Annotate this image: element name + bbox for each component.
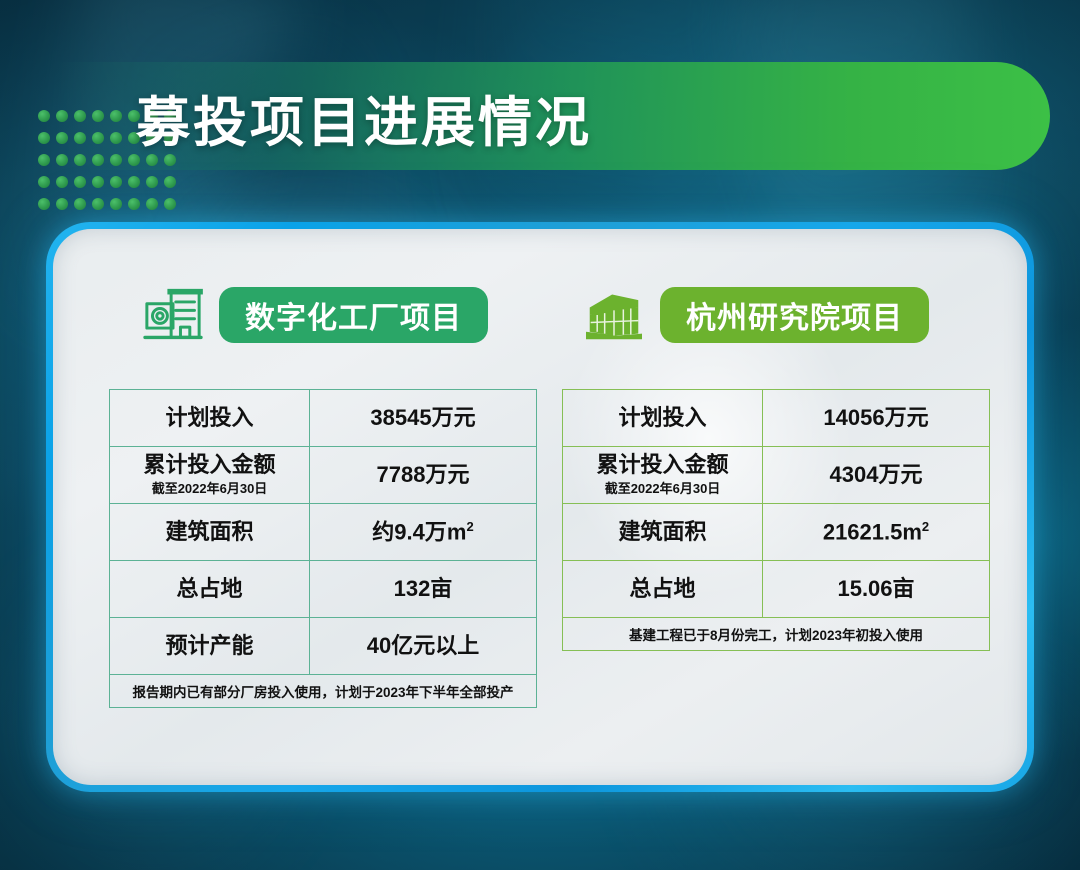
dot xyxy=(92,132,104,144)
dot xyxy=(164,198,176,210)
dot xyxy=(110,110,122,122)
value-text: 14056万元 xyxy=(823,406,928,429)
value-text: 15.06亩 xyxy=(837,577,914,600)
dot xyxy=(38,110,50,122)
project-note: 基建工程已于8月份完工，计划2023年初投入使用 xyxy=(563,618,989,650)
table-cell-label: 累计投入金额截至2022年6月30日 xyxy=(110,447,310,503)
dot xyxy=(92,198,104,210)
table-cell-value: 38545万元 xyxy=(310,390,536,446)
label-text: 计划投入 xyxy=(618,406,706,429)
page-title: 募投项目进展情况 xyxy=(136,78,592,157)
content-panel: 数字化工厂项目 计划投入38545万元累计投入金额截至2022年6月30日778… xyxy=(53,229,1027,785)
project-badge-digital-factory: 数字化工厂项目 xyxy=(219,287,488,343)
dot xyxy=(110,198,122,210)
dot xyxy=(146,176,158,188)
table-cell-label: 总占地 xyxy=(110,561,310,617)
project-badge-hangzhou-research: 杭州研究院项目 xyxy=(660,287,929,343)
project-header-hangzhou-research: 杭州研究院项目 xyxy=(540,287,1027,343)
label-text: 累计投入金额 xyxy=(143,453,275,476)
table-cell-value: 4304万元 xyxy=(763,447,989,503)
table-cell-label: 建筑面积 xyxy=(563,504,763,560)
table-cell-label: 计划投入 xyxy=(563,390,763,446)
label-text: 计划投入 xyxy=(165,406,253,429)
research-institute-icon xyxy=(584,287,644,343)
dot xyxy=(92,176,104,188)
digital-factory-icon xyxy=(143,287,203,343)
table-row: 总占地15.06亩 xyxy=(563,560,989,617)
value-superscript: 2 xyxy=(466,519,473,534)
dot xyxy=(92,154,104,166)
dot xyxy=(38,198,50,210)
table-cell-label: 预计产能 xyxy=(110,618,310,674)
dot xyxy=(56,176,68,188)
dot xyxy=(110,176,122,188)
label-sublabel: 截至2022年6月30日 xyxy=(605,478,721,497)
dot xyxy=(110,132,122,144)
dot xyxy=(56,110,68,122)
dot xyxy=(74,110,86,122)
dot xyxy=(110,154,122,166)
table-cell-value: 21621.5m2 xyxy=(763,504,989,560)
table-row: 建筑面积21621.5m2 xyxy=(563,503,989,560)
table-row: 总占地132亩 xyxy=(110,560,536,617)
table-row: 计划投入38545万元 xyxy=(110,390,536,446)
dot xyxy=(74,198,86,210)
value-text: 7788万元 xyxy=(377,463,470,486)
dot xyxy=(74,154,86,166)
table-cell-value: 14056万元 xyxy=(763,390,989,446)
content-frame: 数字化工厂项目 计划投入38545万元累计投入金额截至2022年6月30日778… xyxy=(46,222,1034,792)
table-cell-value: 7788万元 xyxy=(310,447,536,503)
project-columns: 数字化工厂项目 计划投入38545万元累计投入金额截至2022年6月30日778… xyxy=(53,229,1027,785)
dot xyxy=(56,154,68,166)
table-cell-label: 累计投入金额截至2022年6月30日 xyxy=(563,447,763,503)
label-text: 建筑面积 xyxy=(165,520,253,543)
table-row: 累计投入金额截至2022年6月30日7788万元 xyxy=(110,446,536,503)
table-cell-label: 计划投入 xyxy=(110,390,310,446)
value-text: 4304万元 xyxy=(830,463,923,486)
value-text: 38545万元 xyxy=(370,406,475,429)
table-cell-label: 建筑面积 xyxy=(110,504,310,560)
project-table-digital-factory: 计划投入38545万元累计投入金额截至2022年6月30日7788万元建筑面积约… xyxy=(109,389,537,708)
table-cell-value: 约9.4万m2 xyxy=(310,504,536,560)
project-header-digital-factory: 数字化工厂项目 xyxy=(53,287,540,343)
table-cell-value: 15.06亩 xyxy=(763,561,989,617)
table-row: 预计产能40亿元以上 xyxy=(110,617,536,674)
dot xyxy=(38,154,50,166)
table-row: 计划投入14056万元 xyxy=(563,390,989,446)
value-text: 132亩 xyxy=(394,577,453,600)
dot xyxy=(38,132,50,144)
project-note: 报告期内已有部分厂房投入使用，计划于2023年下半年全部投产 xyxy=(110,675,536,707)
dot xyxy=(92,110,104,122)
table-cell-value: 132亩 xyxy=(310,561,536,617)
table-cell-value: 40亿元以上 xyxy=(310,618,536,674)
page-header: 募投项目进展情况 xyxy=(0,52,1080,180)
value-text: 40亿元以上 xyxy=(367,634,479,657)
label-text: 总占地 xyxy=(629,577,695,600)
value-text: 21621.5m2 xyxy=(823,520,929,544)
label-text: 预计产能 xyxy=(165,634,253,657)
dot xyxy=(38,176,50,188)
table-note-row: 报告期内已有部分厂房投入使用，计划于2023年下半年全部投产 xyxy=(110,674,536,707)
label-sublabel: 截至2022年6月30日 xyxy=(152,478,268,497)
table-row: 建筑面积约9.4万m2 xyxy=(110,503,536,560)
dot xyxy=(56,198,68,210)
dot xyxy=(74,132,86,144)
project-table-hangzhou-research: 计划投入14056万元累计投入金额截至2022年6月30日4304万元建筑面积2… xyxy=(562,389,990,651)
value-superscript: 2 xyxy=(922,519,929,534)
project-column-hangzhou-research: 杭州研究院项目 计划投入14056万元累计投入金额截至2022年6月30日430… xyxy=(540,229,1027,785)
table-cell-label: 总占地 xyxy=(563,561,763,617)
label-text: 总占地 xyxy=(176,577,242,600)
dot xyxy=(146,198,158,210)
label-text: 累计投入金额 xyxy=(596,453,728,476)
project-column-digital-factory: 数字化工厂项目 计划投入38545万元累计投入金额截至2022年6月30日778… xyxy=(53,229,540,785)
value-text: 约9.4万m2 xyxy=(372,520,473,544)
dot xyxy=(128,176,140,188)
dot xyxy=(56,132,68,144)
table-note-row: 基建工程已于8月份完工，计划2023年初投入使用 xyxy=(563,617,989,650)
dot xyxy=(164,176,176,188)
table-row: 累计投入金额截至2022年6月30日4304万元 xyxy=(563,446,989,503)
label-text: 建筑面积 xyxy=(618,520,706,543)
dot xyxy=(74,176,86,188)
dot xyxy=(128,198,140,210)
